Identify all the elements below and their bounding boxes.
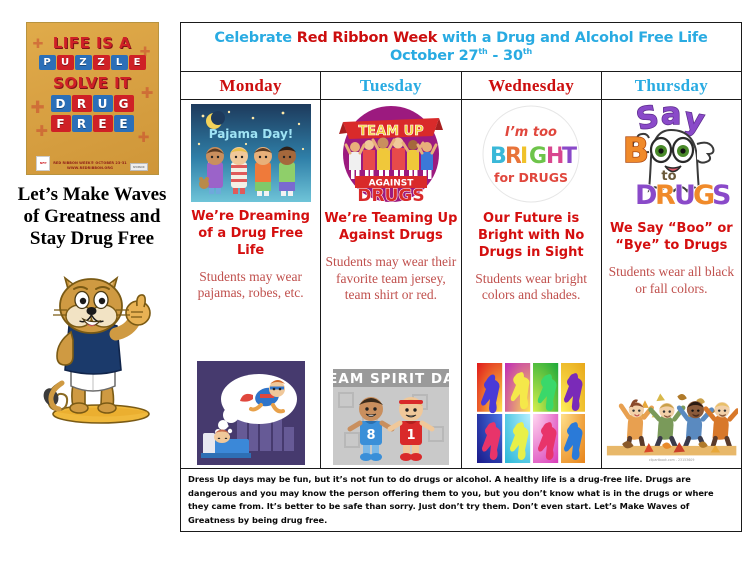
flyer-title-line-2: October 27th - 30th (185, 47, 737, 65)
day-header-tuesday: Tuesday (321, 72, 461, 99)
footer-message: Dress Up days may be fun, but it’s not f… (188, 473, 734, 527)
title-date-sup-2: th (523, 47, 532, 56)
poster-drug-word: DRUG (51, 95, 134, 112)
thursday-top-art: S a y (605, 104, 738, 214)
day-header-monday: Monday (181, 72, 321, 99)
monday-bottom-art (184, 361, 317, 466)
monday-art-caption: Pajama Day! (208, 127, 293, 141)
red-ribbon-logo-icon: NFP (36, 156, 50, 171)
day-column-wednesday: I’m too B R I G H T for DRUGS Our Future… (462, 100, 602, 468)
wednesday-description: Students wear bright colors and shades. (465, 271, 598, 304)
footer-row: Dress Up days may be fun, but it’s not f… (181, 469, 741, 531)
red-ribbon-week-flyer: ✚ ✚ ✚ ✚ ✚ ✚ LIFE IS A PUZZLE SOLVE IT DR… (0, 0, 750, 562)
title-part-red-ribbon-week: Red Ribbon Week (297, 30, 437, 46)
day-column-thursday: S a y (602, 100, 741, 468)
wednesday-top-art: I’m too B R I G H T for DRUGS (465, 104, 598, 204)
svg-text:I: I (520, 144, 528, 169)
poster-puzzle-word: PUZZLE (39, 55, 146, 70)
monday-top-art: Pajama Day! (184, 104, 317, 202)
thursday-art-boo-b: B (623, 131, 649, 171)
svg-text:T: T (562, 144, 577, 169)
svg-text:G: G (529, 144, 547, 169)
monday-headline: We’re Dreaming of a Drug Free Life (184, 209, 317, 260)
day-header-row: Monday Tuesday Wednesday Thursday (181, 72, 741, 100)
day-content-row: Pajama Day! (181, 100, 741, 469)
tuesday-top-art: TEAM UP (324, 104, 457, 204)
tuesday-jersey-right-number: 1 (406, 428, 415, 443)
flyer-title-line-1: Celebrate Red Ribbon Week with a Drug an… (185, 29, 737, 47)
wednesday-art-line-1: I’m too (505, 125, 557, 140)
thursday-art-credit: clipartbook.com - 23153609 (649, 458, 695, 462)
poster-footer: NFP RED RIBBON WEEK® OCTOBER 23-31 WWW.R… (27, 156, 158, 171)
flyer-title-row: Celebrate Red Ribbon Week with a Drug an… (181, 23, 741, 72)
thursday-description: Students wear all black or fall colors. (605, 264, 738, 297)
tuesday-art-drugs-text: DRUGS (357, 186, 424, 204)
poster-footer-line-2: WWW.REDRIBBON.ORG (53, 166, 127, 171)
tuesday-jersey-left-number: 8 (366, 428, 375, 443)
title-date-mid: - 30 (488, 48, 523, 64)
svg-text:R: R (655, 180, 676, 211)
thursday-bottom-art: clipartbook.com - 23153609 (605, 383, 738, 466)
title-part-tail: with a Drug and Alcohol Free Life (437, 30, 707, 46)
tuesday-bottom-art: TEAM SPIRIT DAY (324, 369, 457, 466)
day-column-tuesday: TEAM UP (321, 100, 461, 468)
monday-description: Students may wear pajamas, robes, etc. (184, 269, 317, 302)
thursday-headline: We Say “Boo” or “Bye” to Drugs (605, 221, 738, 255)
day-column-monday: Pajama Day! (181, 100, 321, 468)
surfing-bobcat-mascot-icon (17, 256, 167, 432)
tuesday-art-spirit-banner: TEAM SPIRIT DAY (333, 371, 449, 387)
tuesday-headline: We’re Teaming Up Against Drugs (324, 211, 457, 245)
day-header-wednesday: Wednesday (462, 72, 602, 99)
title-date-prefix: October 27 (390, 48, 478, 64)
wednesday-art-line-3: for DRUGS (494, 170, 568, 185)
sidebar: ✚ ✚ ✚ ✚ ✚ ✚ LIFE IS A PUZZLE SOLVE IT DR… (8, 22, 176, 532)
page-slogan: Let’s Make Waves of Greatness and Stay D… (17, 184, 167, 250)
tuesday-description: Students may wear their favorite team je… (324, 254, 457, 303)
day-header-thursday: Thursday (602, 72, 741, 99)
poster-sponsor-tag: SPONSOR (130, 163, 148, 171)
wednesday-bottom-art (465, 361, 598, 466)
poster-line-3: SOLVE IT (53, 74, 131, 92)
title-part-celebrate: Celebrate (214, 30, 296, 46)
poster-line-1: LIFE IS A (53, 34, 132, 52)
title-date-sup-1: th (478, 47, 487, 56)
thursday-art-say-a: a (661, 104, 681, 132)
week-schedule-table: Celebrate Red Ribbon Week with a Drug an… (180, 22, 742, 532)
svg-text:S: S (712, 180, 731, 211)
wednesday-headline: Our Future is Bright with No Drugs in Si… (465, 211, 598, 262)
poster-free-word: FREE (51, 115, 134, 132)
life-is-a-puzzle-poster: ✚ ✚ ✚ ✚ ✚ ✚ LIFE IS A PUZZLE SOLVE IT DR… (26, 22, 159, 175)
tuesday-art-banner-text: TEAM UP (358, 124, 423, 139)
